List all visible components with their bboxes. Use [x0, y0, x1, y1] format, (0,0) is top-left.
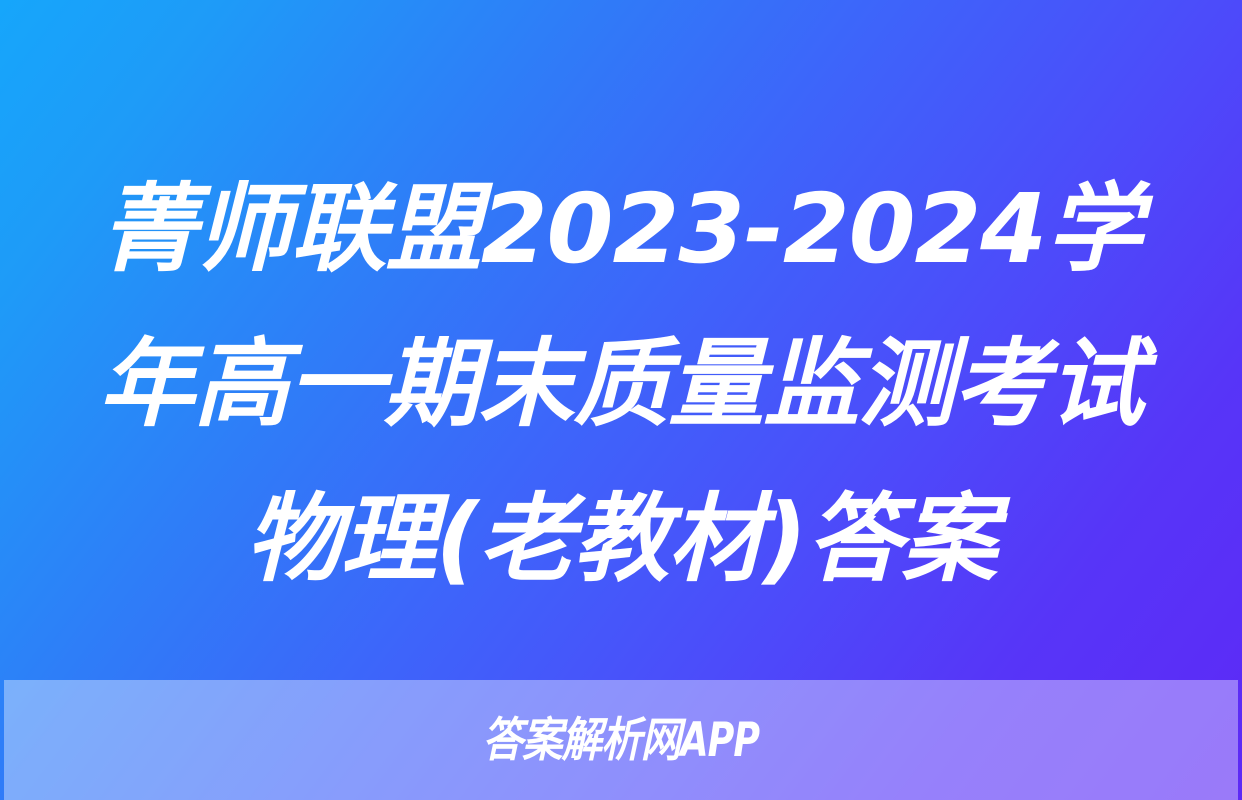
footer-watermark-banner: 答案解析网APP [4, 680, 1238, 800]
title-line-3: 物理(老教材)答案 [28, 462, 1214, 617]
watermark-label: 答案解析网APP [483, 717, 760, 764]
promo-card: 菁师联盟2023-2024学 年高一期末质量监测考试 物理(老教材)答案 答案解… [0, 0, 1242, 800]
title-line-2: 年高一期末质量监测考试 [28, 307, 1214, 462]
page-title: 菁师联盟2023-2024学 年高一期末质量监测考试 物理(老教材)答案 [0, 152, 1242, 617]
title-line-1: 菁师联盟2023-2024学 [28, 152, 1214, 307]
